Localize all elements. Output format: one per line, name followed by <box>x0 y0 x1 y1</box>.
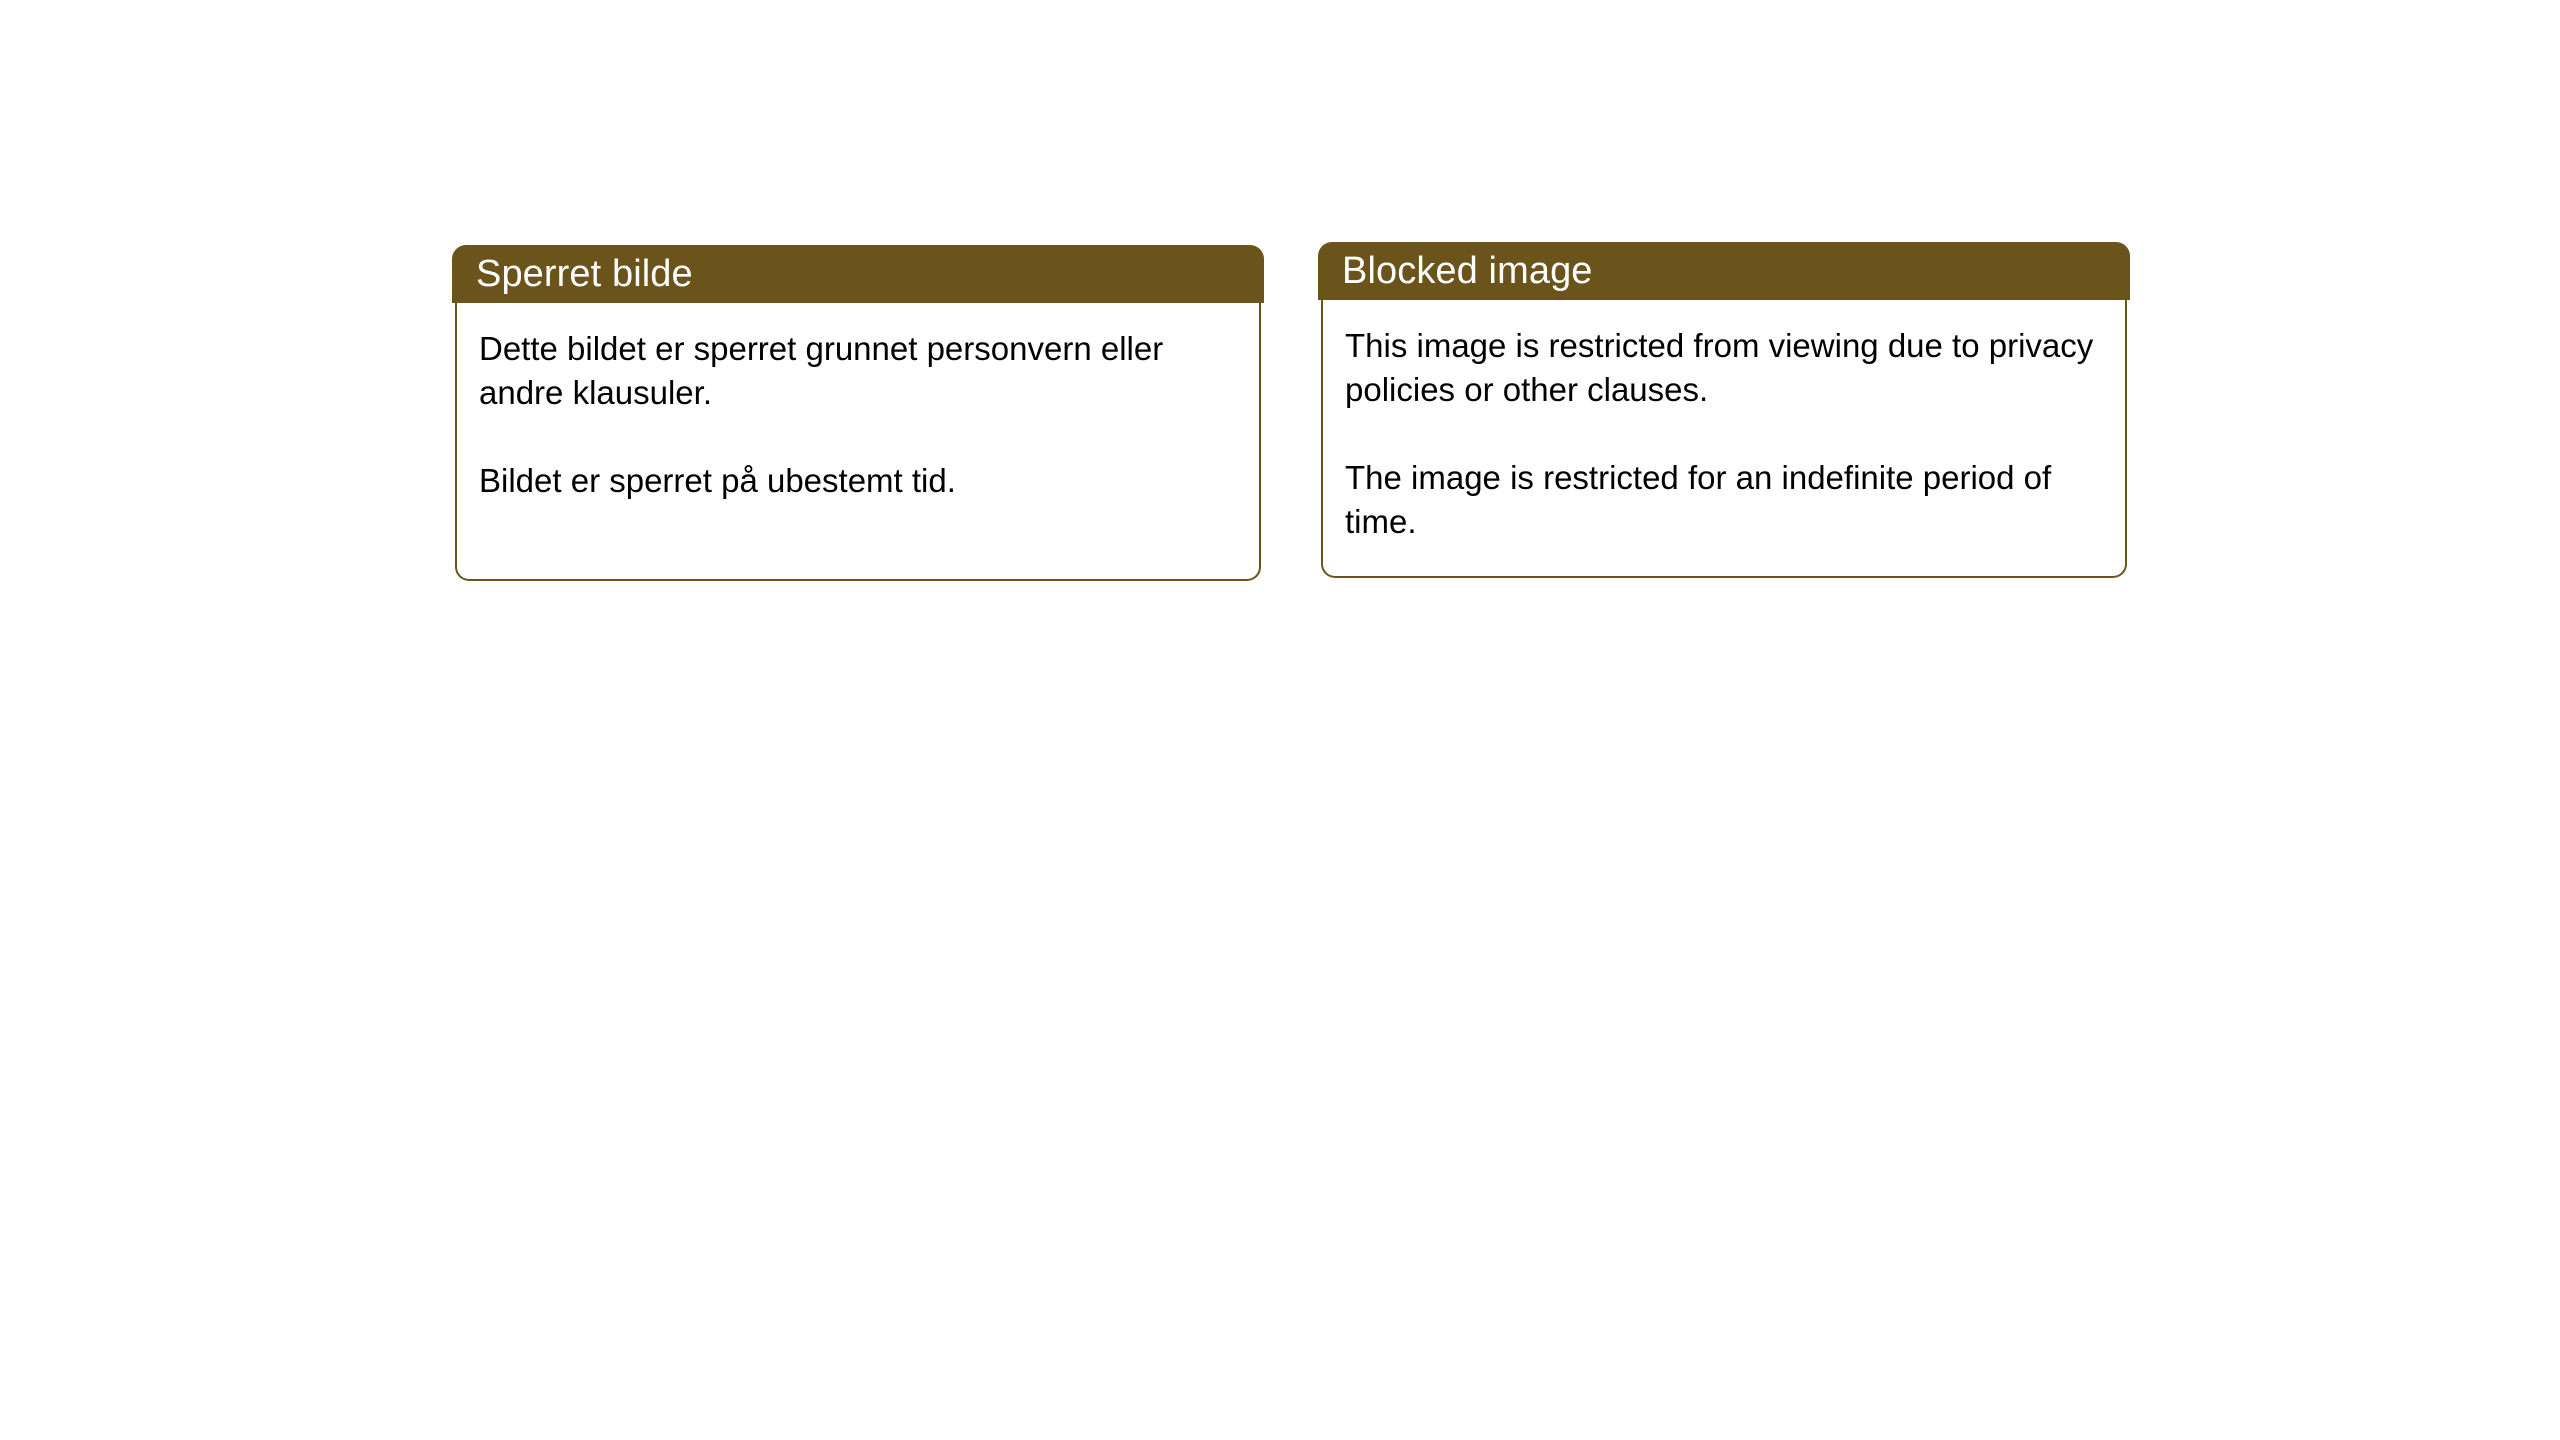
card-paragraph-duration-norwegian: Bildet er sperret på ubestemt tid. <box>479 459 1237 503</box>
card-title-norwegian: Sperret bilde <box>476 245 693 303</box>
blocked-image-notice-card-norwegian: Sperret bilde Dette bildet er sperret gr… <box>452 245 1264 581</box>
card-body-english: This image is restricted from viewing du… <box>1321 300 2127 578</box>
card-paragraph-reason-english: This image is restricted from viewing du… <box>1345 324 2103 412</box>
card-body-norwegian: Dette bildet er sperret grunnet personve… <box>455 303 1261 581</box>
card-paragraph-reason-norwegian: Dette bildet er sperret grunnet personve… <box>479 327 1237 415</box>
card-header-norwegian: Sperret bilde <box>452 245 1264 303</box>
card-paragraph-duration-english: The image is restricted for an indefinit… <box>1345 456 2103 544</box>
blocked-image-notice-card-english: Blocked image This image is restricted f… <box>1318 242 2130 578</box>
card-title-english: Blocked image <box>1342 242 1593 300</box>
page-canvas: Sperret bilde Dette bildet er sperret gr… <box>0 0 2560 1440</box>
card-header-english: Blocked image <box>1318 242 2130 300</box>
